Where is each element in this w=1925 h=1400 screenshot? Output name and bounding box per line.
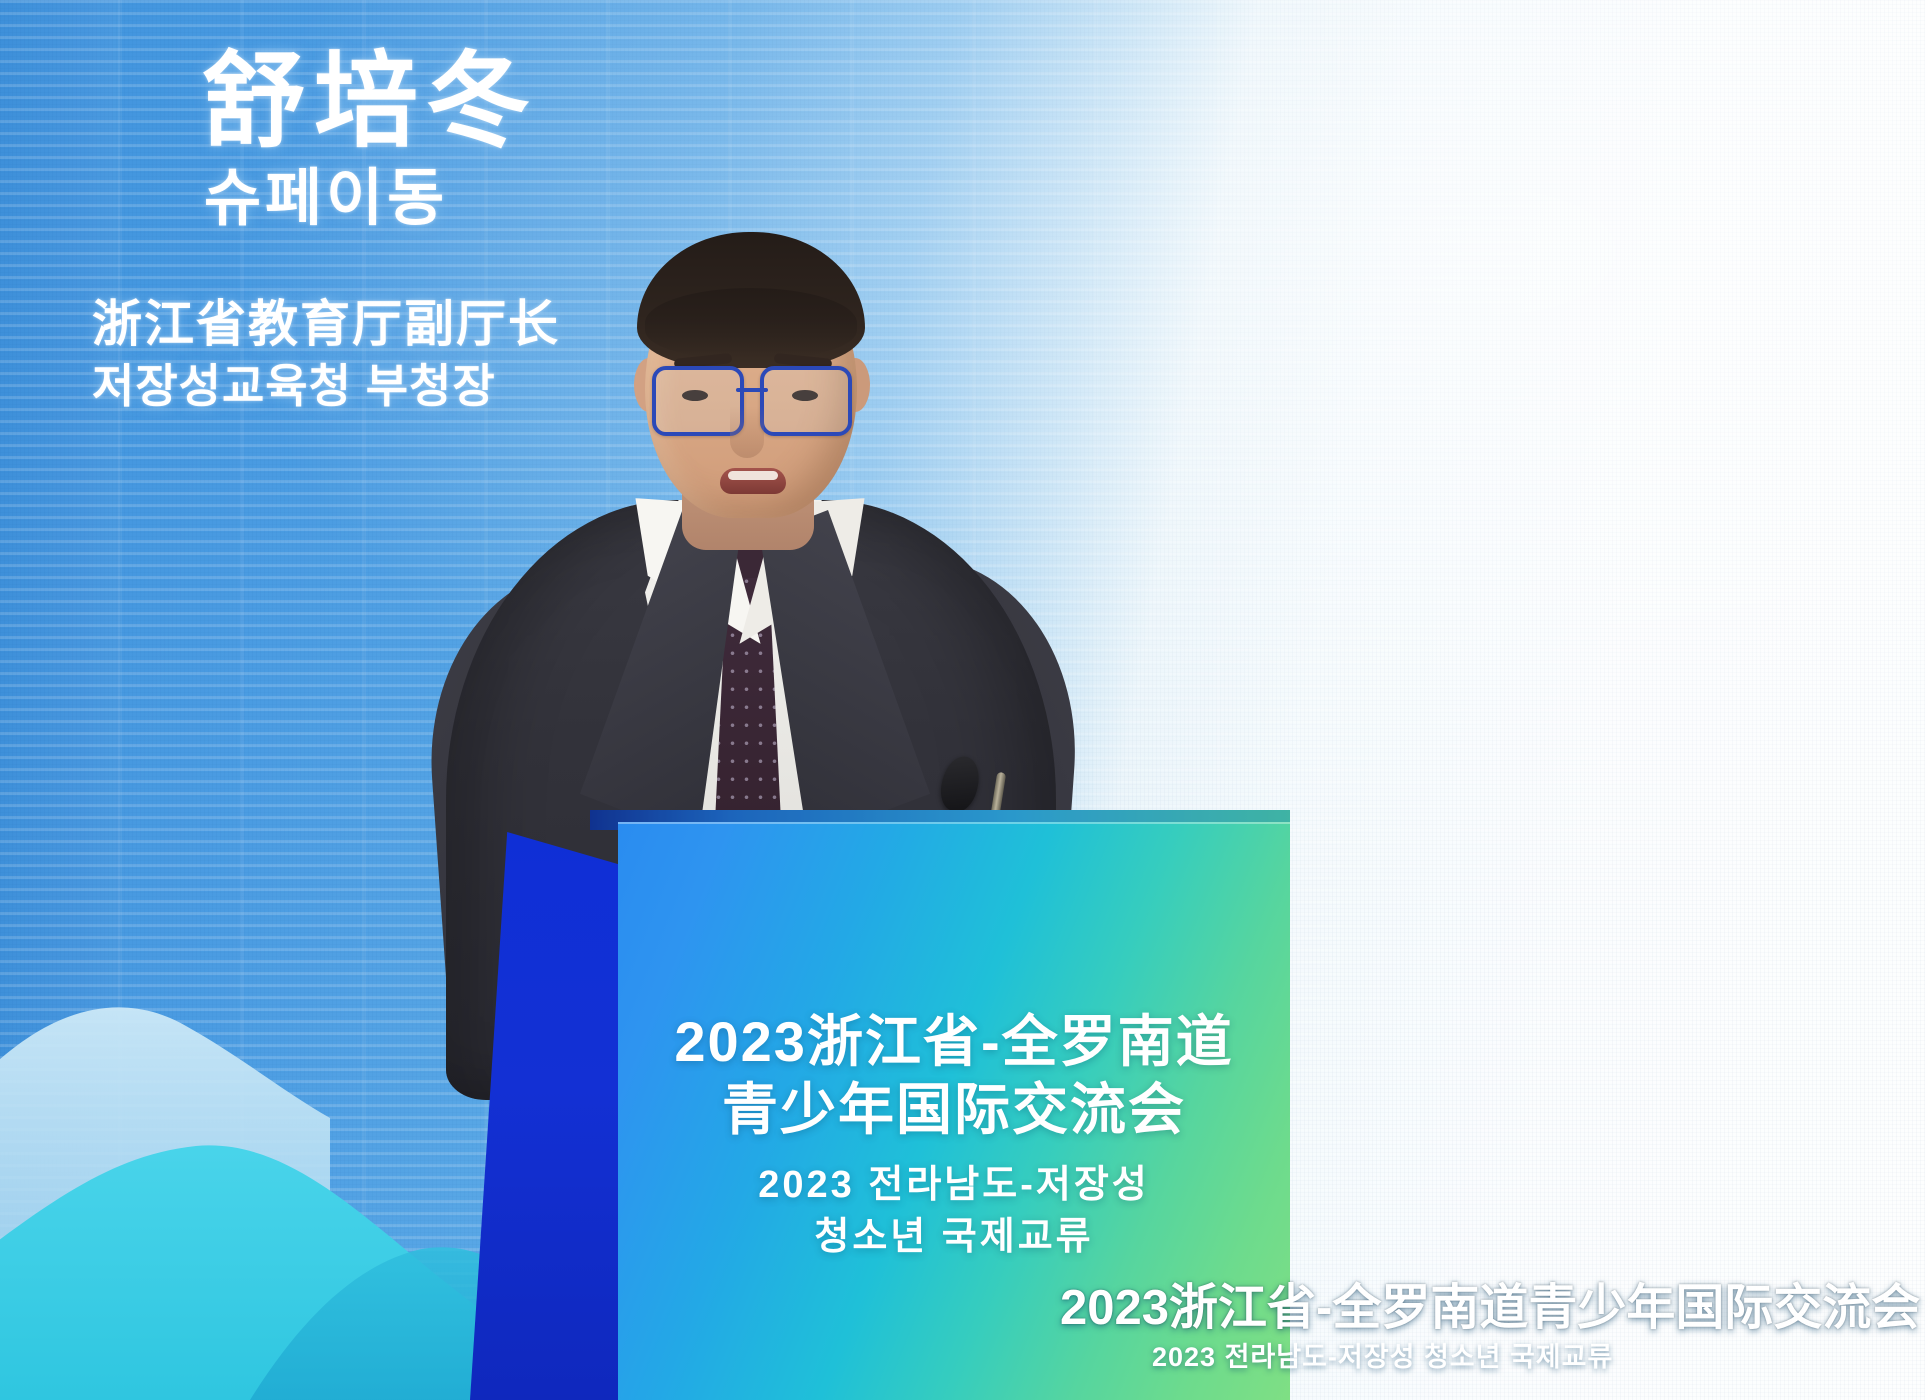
nose: [730, 406, 764, 458]
podium-title-chinese-line2: 青少年国际交流会: [618, 1076, 1290, 1144]
photograph-stage: 舒培冬 슈페이동 浙江省教育厅副厅长 저장성교육청 부청장: [0, 0, 1925, 1400]
mouth: [720, 468, 786, 494]
podium-title-korean-line1: 2023 전라남도-저장성: [618, 1161, 1290, 1210]
glasses-bridge: [736, 388, 768, 392]
lens-right: [760, 366, 852, 436]
podium-title-korean-line2: 청소년 국제교류: [618, 1213, 1290, 1262]
podium-side-panel: [470, 832, 625, 1400]
podium: 2023浙江省-全罗南道 青少年国际交流会 2023 전라남도-저장성 청소년 …: [470, 800, 1290, 1400]
hair: [637, 232, 865, 368]
podium-event-title: 2023浙江省-全罗南道 青少年国际交流会 2023 전라남도-저장성 청소년 …: [618, 1008, 1290, 1262]
podium-title-chinese-line1: 2023浙江省-全罗南道: [618, 1008, 1290, 1076]
speaker-name-chinese: 舒培冬: [92, 48, 752, 157]
